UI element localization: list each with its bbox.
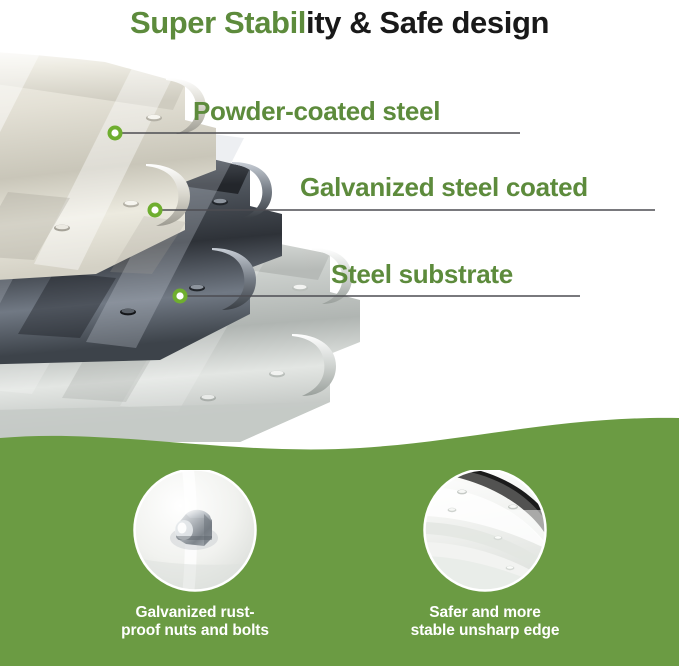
callout-label-steel-substrate: Steel substrate <box>331 259 513 290</box>
page-title: Super Stability & Safe design <box>0 0 679 46</box>
page-title-dark-part: ity & Safe design <box>306 5 549 41</box>
callout-marker-0 <box>108 126 123 141</box>
callout-marker-2 <box>173 289 188 304</box>
feature-unsharp-edge: Safer and more stable unsharp edge <box>375 470 595 641</box>
callout-marker-1 <box>148 203 163 218</box>
bolt-nut-closeup-photo <box>120 470 270 594</box>
callout-label-powder-coated-steel: Powder-coated steel <box>193 96 440 127</box>
rolled-edge-closeup-photo <box>410 470 560 594</box>
feature-nuts-and-bolts: Galvanized rust- proof nuts and bolts <box>85 470 305 641</box>
feature-caption-1: Safer and more stable unsharp edge <box>375 604 595 641</box>
page-title-green-part: Super Stabil <box>130 5 306 41</box>
feature-caption-0: Galvanized rust- proof nuts and bolts <box>85 604 305 641</box>
callout-label-galvanized-steel-coated: Galvanized steel coated <box>300 172 588 203</box>
infographic-root: Super Stability & Safe design <box>0 0 679 666</box>
